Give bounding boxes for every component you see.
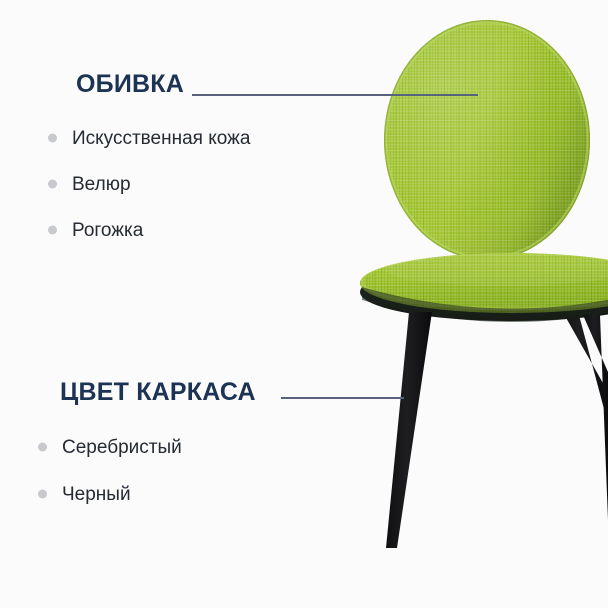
front-left-leg: [386, 312, 432, 548]
option-label: Искусственная кожа: [72, 129, 250, 148]
list-item[interactable]: Велюр: [48, 172, 330, 196]
callout-upholstery-heading: ОБИВКА: [0, 72, 330, 97]
seat: [355, 250, 608, 322]
list-item[interactable]: Серебристый: [38, 435, 330, 459]
option-label: Черный: [62, 485, 131, 504]
product-option-infographic: ОБИВКА Искусственная кожа Велюр Рогожка …: [0, 0, 608, 608]
list-item[interactable]: Искусственная кожа: [48, 126, 330, 150]
bullet-icon: [48, 134, 57, 143]
option-label: Велюр: [72, 175, 131, 194]
callout-frame-color-heading: ЦВЕТ КАРКАСА: [0, 380, 330, 405]
callout-upholstery: ОБИВКА Искусственная кожа Велюр Рогожка: [0, 72, 330, 264]
callout-frame-color: ЦВЕТ КАРКАСА Серебристый Черный: [0, 380, 330, 529]
bullet-icon: [48, 180, 57, 189]
bullet-icon: [48, 226, 57, 235]
backrest: [380, 16, 596, 266]
option-label: Рогожка: [72, 221, 143, 240]
list-item[interactable]: Черный: [38, 482, 330, 506]
list-item[interactable]: Рогожка: [48, 218, 330, 242]
upholstery-option-list: Искусственная кожа Велюр Рогожка: [0, 126, 330, 242]
frame-color-option-list: Серебристый Черный: [0, 435, 330, 506]
bullet-icon: [38, 443, 47, 452]
option-label: Серебристый: [62, 438, 182, 457]
bullet-icon: [38, 490, 47, 499]
